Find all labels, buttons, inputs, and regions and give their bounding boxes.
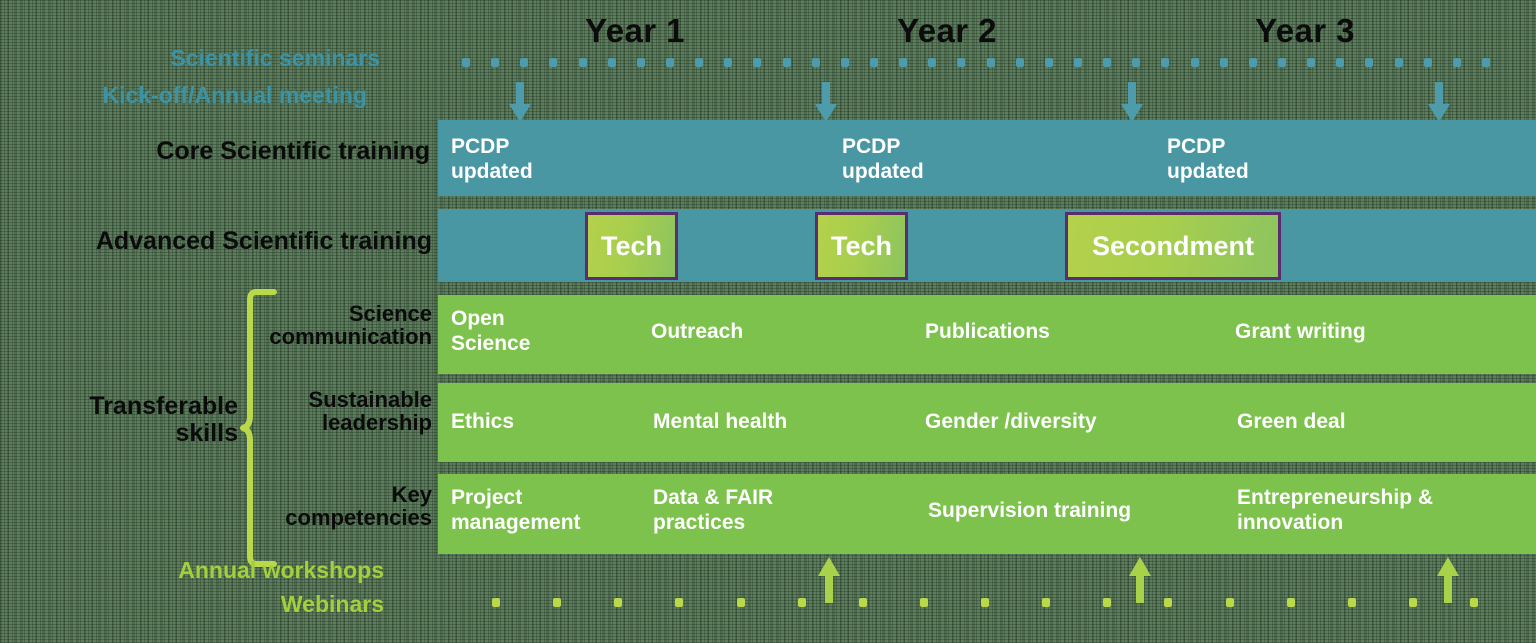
webinar-dot: [1348, 598, 1356, 607]
seminar-dot: [957, 58, 965, 67]
webinar-dot: [1103, 598, 1111, 607]
webinar-dot: [1409, 598, 1417, 607]
webinar-dot: [1226, 598, 1234, 607]
cell-supervision-training: Supervision training: [928, 498, 1131, 523]
cell-pcdp-2: PCDP updated: [842, 134, 924, 184]
cell-publications: Publications: [925, 319, 1050, 344]
year-label-3: Year 3: [1210, 12, 1400, 50]
diagram-canvas: Year 1 Year 2 Year 3 Scientific seminars…: [0, 0, 1536, 643]
label-science-communication: Science communication: [240, 302, 432, 349]
label-kick-off-annual-meeting: Kick-off/Annual meeting: [60, 83, 367, 107]
seminar-dot: [841, 58, 849, 67]
seminar-dot: [1191, 58, 1199, 67]
cell-project-management: Project management: [451, 485, 581, 535]
seminar-dot: [1307, 58, 1315, 67]
seminar-dot: [1395, 58, 1403, 67]
webinar-dot: [1164, 598, 1172, 607]
seminar-dot: [1074, 58, 1082, 67]
seminar-dot: [870, 58, 878, 67]
row-core-scientific-training: PCDP updated PCDP updated PCDP updated: [438, 120, 1536, 196]
box-tech-1[interactable]: Tech: [585, 212, 678, 280]
seminar-dot: [783, 58, 791, 67]
workshop-arrow-3: [1437, 557, 1459, 603]
scientific-seminars-dot-row: [0, 58, 1536, 72]
seminar-dot: [1278, 58, 1286, 67]
webinar-dot: [553, 598, 561, 607]
seminar-dot: [695, 58, 703, 67]
cell-entrepreneurship-innovation: Entrepreneurship & innovation: [1237, 485, 1433, 535]
label-advanced-scientific-training: Advanced Scientific training: [50, 228, 432, 255]
seminar-dot: [1132, 58, 1140, 67]
seminar-dot: [579, 58, 587, 67]
box-secondment[interactable]: Secondment: [1065, 212, 1281, 280]
seminar-dot: [899, 58, 907, 67]
cell-ethics: Ethics: [451, 409, 514, 434]
label-transferable-skills: Transferable skills: [60, 393, 238, 446]
seminar-dot: [928, 58, 936, 67]
webinar-dot: [737, 598, 745, 607]
row-science-communication: Open Science Outreach Publications Grant…: [438, 295, 1536, 374]
cell-data-fair-practices: Data & FAIR practices: [653, 485, 773, 535]
seminar-dot: [1045, 58, 1053, 67]
row-sustainable-leadership: Ethics Mental health Gender /diversity G…: [438, 383, 1536, 462]
seminar-dot: [724, 58, 732, 67]
workshop-arrow-1: [818, 557, 840, 603]
cell-open-science: Open Science: [451, 306, 530, 356]
seminar-dot: [608, 58, 616, 67]
seminar-dot: [1249, 58, 1257, 67]
webinar-dot: [859, 598, 867, 607]
seminar-dot: [1161, 58, 1169, 67]
cell-pcdp-1: PCDP updated: [451, 134, 533, 184]
webinar-dot: [920, 598, 928, 607]
seminar-dot: [1482, 58, 1490, 67]
kickoff-arrow-4: [1428, 82, 1450, 122]
year-label-1: Year 1: [540, 12, 730, 50]
workshop-arrow-2: [1129, 557, 1151, 603]
seminar-dot: [987, 58, 995, 67]
seminar-dot: [812, 58, 820, 67]
seminar-dot: [1016, 58, 1024, 67]
seminar-dot: [753, 58, 761, 67]
label-sustainable-leadership: Sustainable leadership: [240, 388, 432, 435]
label-core-scientific-training: Core Scientific training: [80, 138, 430, 165]
webinar-dot: [675, 598, 683, 607]
seminar-dot: [1365, 58, 1373, 67]
cell-grant-writing: Grant writing: [1235, 319, 1366, 344]
seminar-dot: [1424, 58, 1432, 67]
box-tech-2[interactable]: Tech: [815, 212, 908, 280]
cell-mental-health: Mental health: [653, 409, 787, 434]
seminar-dot: [1453, 58, 1461, 67]
row-key-competencies: Project management Data & FAIR practices…: [438, 474, 1536, 554]
cell-pcdp-3: PCDP updated: [1167, 134, 1249, 184]
kickoff-arrow-2: [815, 82, 837, 122]
seminar-dot: [1103, 58, 1111, 67]
kickoff-arrow-1: [509, 82, 531, 122]
cell-green-deal: Green deal: [1237, 409, 1346, 434]
webinar-dot: [981, 598, 989, 607]
cell-gender-diversity: Gender /diversity: [925, 409, 1097, 434]
seminar-dot: [491, 58, 499, 67]
seminar-dot: [637, 58, 645, 67]
label-annual-workshops: Annual workshops: [110, 558, 384, 582]
label-key-competencies: Key competencies: [240, 483, 432, 530]
webinar-dot: [1470, 598, 1478, 607]
webinar-dot: [1287, 598, 1295, 607]
webinars-dot-row: [0, 598, 1536, 612]
seminar-dot: [462, 58, 470, 67]
seminar-dot: [549, 58, 557, 67]
webinar-dot: [1042, 598, 1050, 607]
webinar-dot: [492, 598, 500, 607]
cell-outreach: Outreach: [651, 319, 743, 344]
year-label-2: Year 2: [852, 12, 1042, 50]
seminar-dot: [1336, 58, 1344, 67]
webinar-dot: [614, 598, 622, 607]
seminar-dot: [666, 58, 674, 67]
webinar-dot: [798, 598, 806, 607]
seminar-dot: [520, 58, 528, 67]
kickoff-arrow-3: [1121, 82, 1143, 122]
seminar-dot: [1220, 58, 1228, 67]
